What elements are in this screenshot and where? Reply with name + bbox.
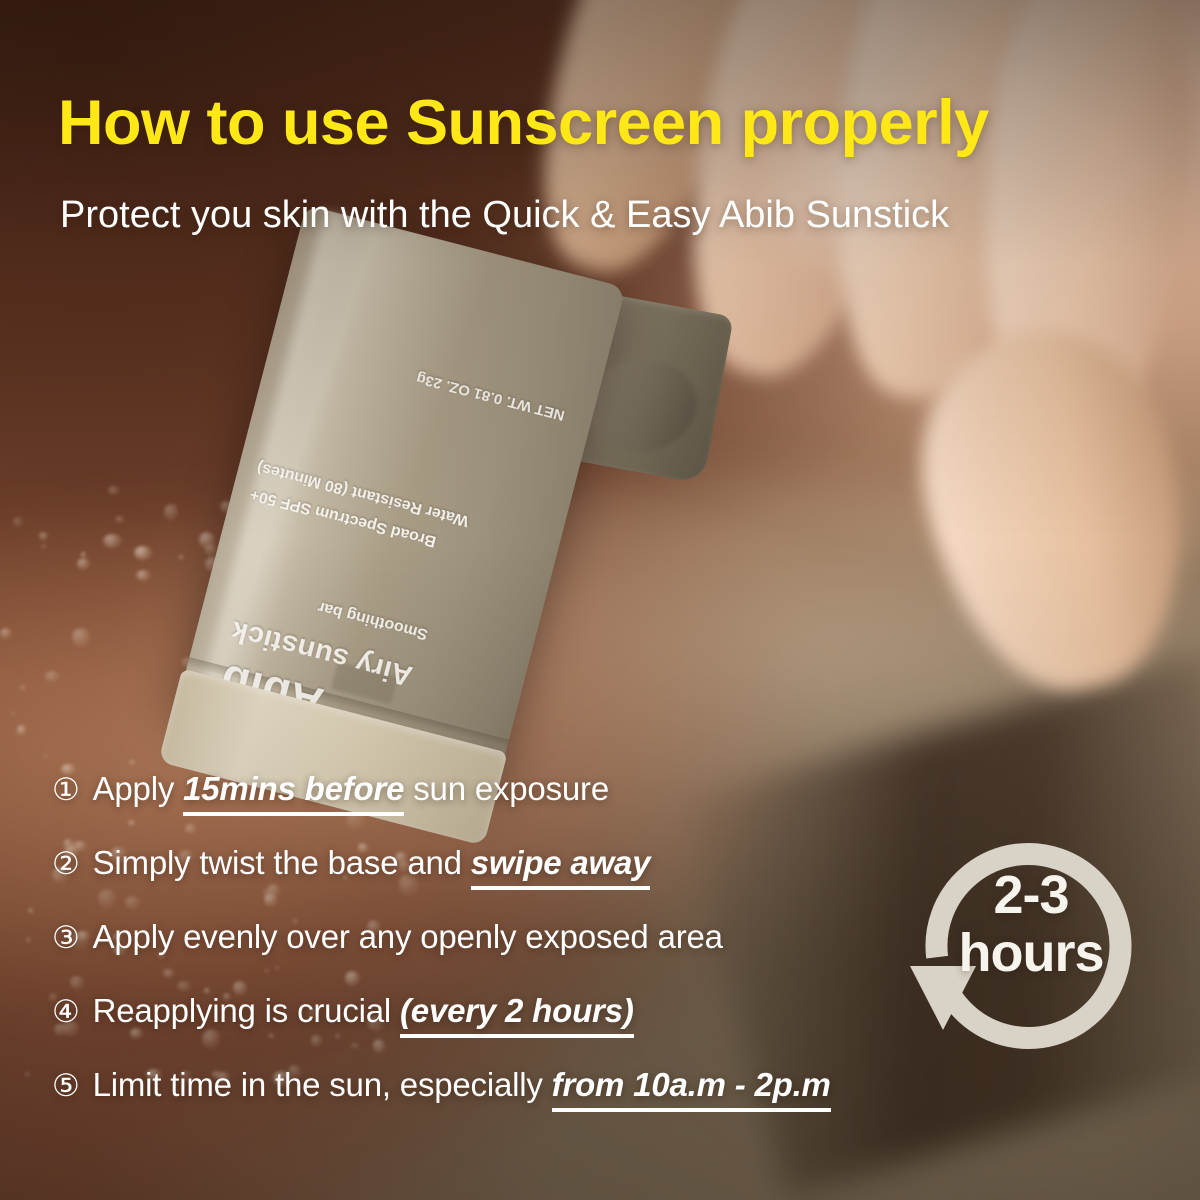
badge-line-1: 2-3 xyxy=(900,864,1162,926)
step-text-plain: Reapplying is crucial xyxy=(93,992,391,1029)
step-text: Reapplying is crucial (every 2 hours) xyxy=(93,992,634,1030)
step-number: ① xyxy=(52,772,80,808)
step-item: ①Apply 15mins before sun exposure xyxy=(52,770,952,844)
step-text-emphasis: swipe away xyxy=(471,844,651,890)
step-number: ④ xyxy=(52,994,80,1030)
step-text-plain: Apply evenly over any openly exposed are… xyxy=(93,918,723,955)
step-text-trailing: sun exposure xyxy=(413,770,609,807)
step-number: ⑤ xyxy=(52,1068,80,1104)
sunscreen-infographic: Abib Airy sunstick Smoothing bar Broad S… xyxy=(0,0,1200,1200)
step-text: Simply twist the base and swipe away xyxy=(93,844,651,882)
step-text-emphasis: (every 2 hours) xyxy=(400,992,634,1038)
step-item: ⑤Limit time in the sun, especially from … xyxy=(52,1066,952,1140)
step-text: Limit time in the sun, especially from 1… xyxy=(93,1066,831,1104)
step-item: ②Simply twist the base and swipe away xyxy=(52,844,952,918)
step-number: ② xyxy=(52,846,80,882)
step-item: ④Reapplying is crucial (every 2 hours) xyxy=(52,992,952,1066)
page-title: How to use Sunscreen properly xyxy=(58,92,1168,155)
step-number: ③ xyxy=(52,920,80,956)
step-text-emphasis: 15mins before xyxy=(183,770,404,816)
step-text: Apply evenly over any openly exposed are… xyxy=(93,918,723,956)
step-text: Apply 15mins before sun exposure xyxy=(93,770,609,808)
step-text-plain: Apply xyxy=(93,770,175,807)
step-text-emphasis: from 10a.m - 2p.m xyxy=(552,1066,831,1112)
step-item: ③Apply evenly over any openly exposed ar… xyxy=(52,918,952,992)
reapply-interval-badge: 2-3 hours xyxy=(900,798,1162,1060)
page-subtitle: Protect you skin with the Quick & Easy A… xyxy=(60,196,1170,234)
badge-line-2: hours xyxy=(900,922,1162,984)
steps-list: ①Apply 15mins before sun exposure②Simply… xyxy=(52,770,952,1140)
step-text-plain: Limit time in the sun, especially xyxy=(93,1066,543,1103)
step-text-plain: Simply twist the base and xyxy=(93,844,462,881)
